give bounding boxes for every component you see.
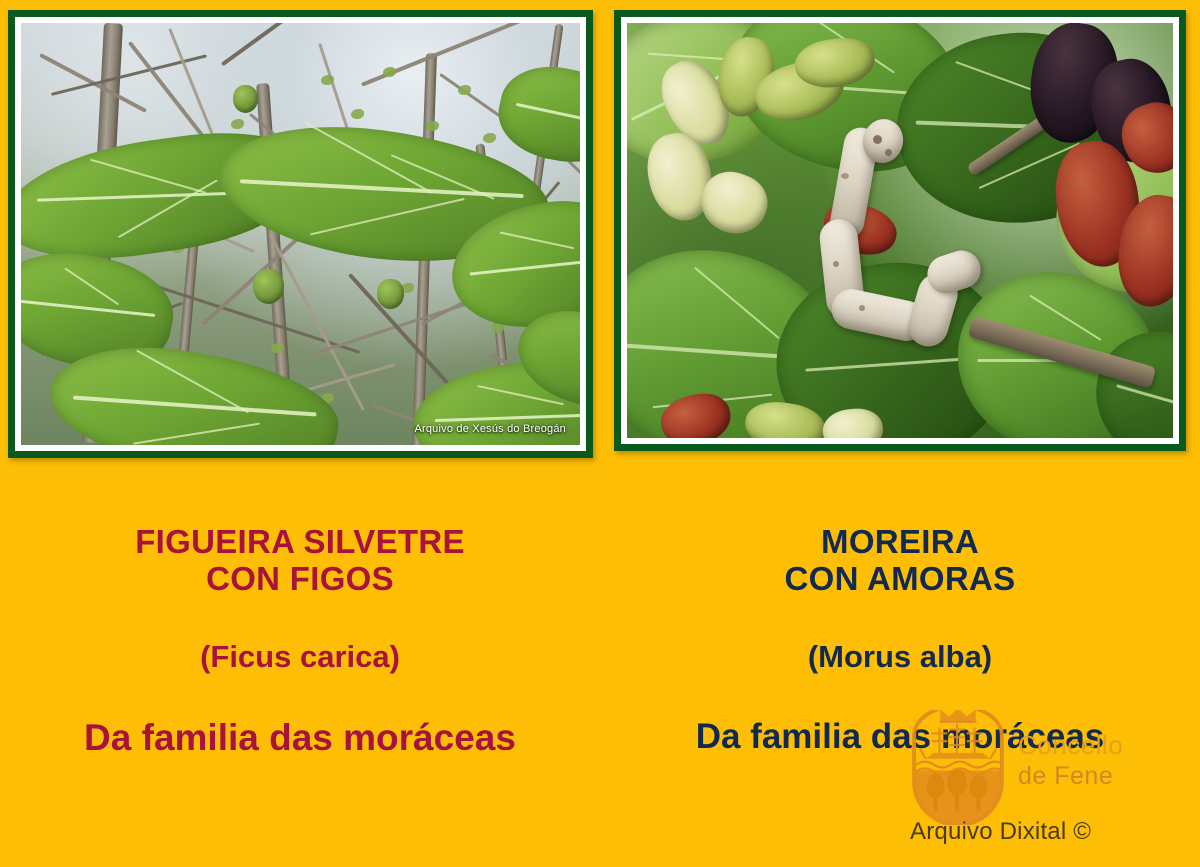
caption-block-right: MOREIRA CON AMORAS (Morus alba) Da famil…	[600, 524, 1200, 756]
photo-matte-right	[621, 17, 1179, 444]
photo-fig-tree: Arquivo de Xesús do Breogán	[21, 23, 580, 445]
caption-title-left-line2: CON FIGOS	[0, 561, 600, 598]
caption-title-right: MOREIRA CON AMORAS	[600, 524, 1200, 598]
caption-title-left: FIGUEIRA SILVETRE CON FIGOS	[0, 524, 600, 598]
photo-matte-left: Arquivo de Xesús do Breogán	[15, 17, 586, 451]
caption-title-left-line1: FIGUEIRA SILVETRE	[0, 524, 600, 561]
caption-scientific-name-left: (Ficus carica)	[0, 640, 600, 675]
photo-credit-left: Arquivo de Xesús do Breogán	[414, 423, 566, 435]
caption-family-right: Da familia das moráceas	[600, 717, 1200, 756]
caption-title-right-line1: MOREIRA	[600, 524, 1200, 561]
slide-canvas: Arquivo de Xesús do Breogán	[0, 0, 1200, 867]
photo-frame-right	[614, 10, 1186, 451]
caption-family-left: Da familia das moráceas	[0, 717, 600, 758]
arquivo-dixital-copyright: Arquivo Dixital ©	[910, 818, 1091, 846]
photo-mulberry-silkworm	[627, 23, 1173, 438]
caption-title-right-line2: CON AMORAS	[600, 561, 1200, 598]
caption-scientific-name-right: (Morus alba)	[600, 640, 1200, 675]
photo-frame-left: Arquivo de Xesús do Breogán	[8, 10, 593, 458]
caption-block-left: FIGUEIRA SILVETRE CON FIGOS (Ficus caric…	[0, 524, 600, 758]
watermark-line2: de Fene	[1018, 762, 1113, 791]
